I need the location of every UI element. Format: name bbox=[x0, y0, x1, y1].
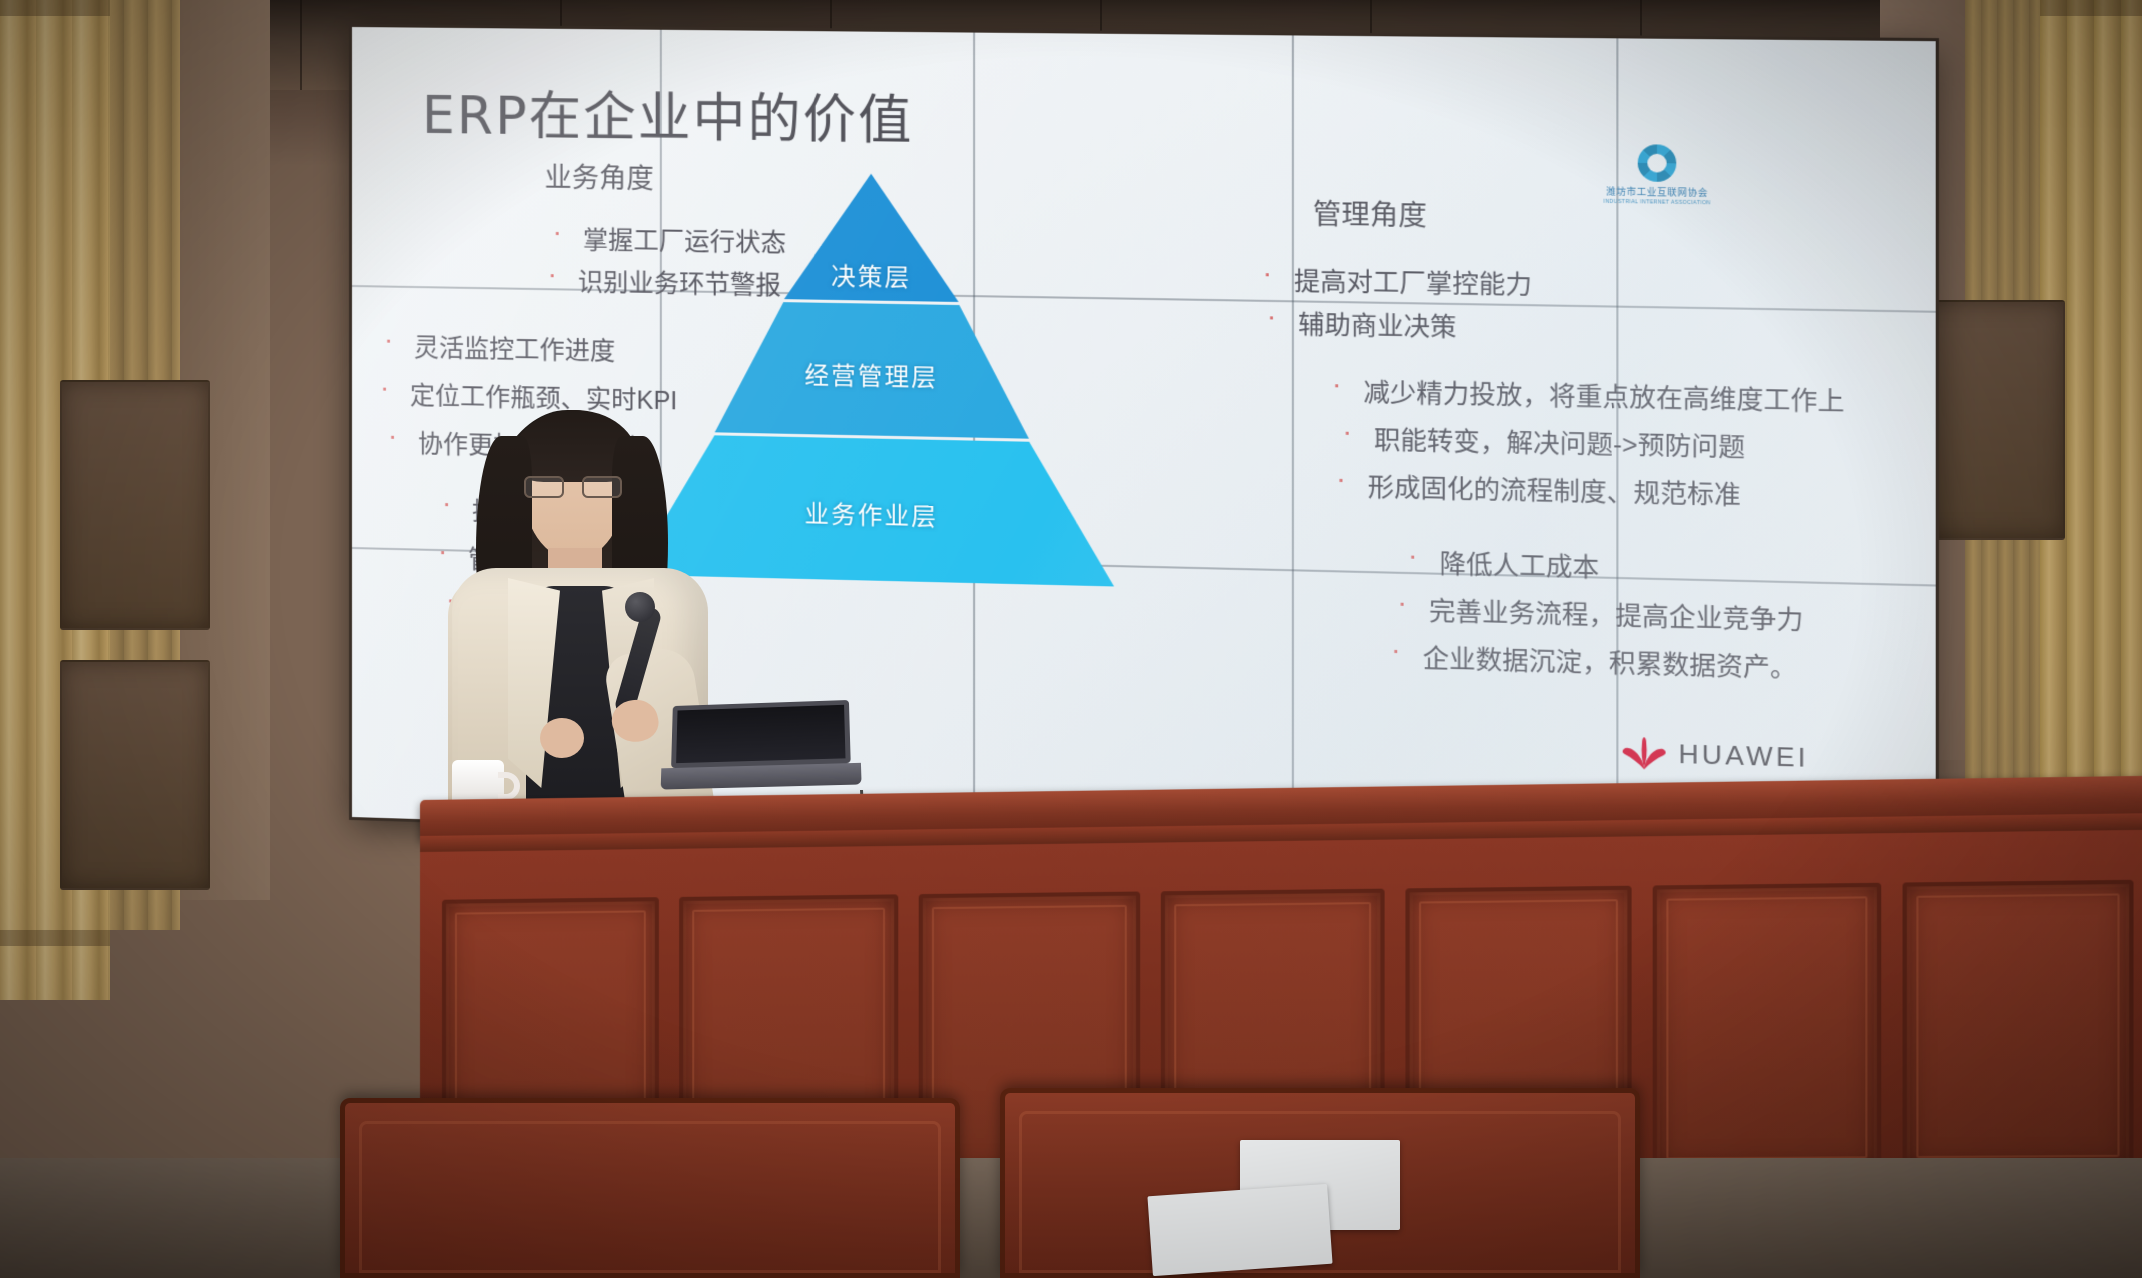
bullet-left-mid-0: 灵活监控工作进度 bbox=[414, 328, 615, 368]
huawei-flower-icon bbox=[1621, 734, 1668, 771]
huawei-logo: HUAWEI bbox=[1621, 734, 1809, 775]
slide-title: ERP在企业中的价值 bbox=[422, 73, 914, 154]
huawei-wordmark: HUAWEI bbox=[1678, 738, 1808, 774]
videowall-seam bbox=[1292, 35, 1294, 846]
chair-foreground bbox=[340, 1098, 960, 1278]
pyramid-tier-top: 决策层 bbox=[784, 173, 959, 302]
association-logo: 潍坊市工业互联网协会 INDUSTRIAL INTERNET ASSOCIATI… bbox=[1589, 136, 1726, 212]
laptop-screen bbox=[671, 700, 851, 768]
desk-panel bbox=[1653, 883, 1882, 1173]
wall-panel-left-2 bbox=[60, 660, 210, 890]
bullet-right-bot-2: 企业数据沉淀，积累数据资产。 bbox=[1423, 638, 1797, 685]
bullet-right-top-0: 提高对工厂掌控能力 bbox=[1294, 261, 1532, 302]
gear-icon bbox=[1638, 144, 1677, 182]
glasses bbox=[524, 476, 624, 498]
bullet-right-bot-1: 完善业务流程，提高企业竞争力 bbox=[1429, 591, 1803, 638]
pyramid-tier-mid-label: 经营管理层 bbox=[715, 354, 1029, 395]
bullet-right-top-1: 辅助商业决策 bbox=[1298, 304, 1456, 344]
bullet-right-mid-1: 职能转变，解决问题->预防问题 bbox=[1374, 420, 1745, 465]
laptop-keyboard bbox=[661, 763, 862, 790]
hand-left bbox=[540, 718, 584, 758]
pyramid-tier-mid: 经营管理层 bbox=[715, 301, 1029, 439]
bullet-right-mid-2: 形成固化的流程制度、规范标准 bbox=[1368, 467, 1741, 512]
slide-heading-management: 管理角度 bbox=[1313, 192, 1427, 234]
wall-panel-left-1 bbox=[60, 380, 210, 630]
pyramid-tier-top-label: 决策层 bbox=[784, 256, 959, 294]
association-name-cn: 潍坊市工业互联网协会 bbox=[1606, 184, 1708, 199]
screenshot-root: ERP在企业中的价值 业务角度 管理角度 掌握工厂运行状态 识别业务环节警报 灵… bbox=[0, 0, 2142, 1278]
desk-panel bbox=[1903, 880, 2134, 1172]
bullet-right-bot-0: 降低人工成本 bbox=[1440, 544, 1600, 585]
microphone-icon bbox=[625, 592, 655, 622]
paper-sheet bbox=[1147, 1184, 1332, 1276]
association-name-en: INDUSTRIAL INTERNET ASSOCIATION bbox=[1603, 198, 1710, 206]
bullet-right-mid-0: 减少精力投放，将重点放在高维度工作上 bbox=[1363, 372, 1844, 418]
